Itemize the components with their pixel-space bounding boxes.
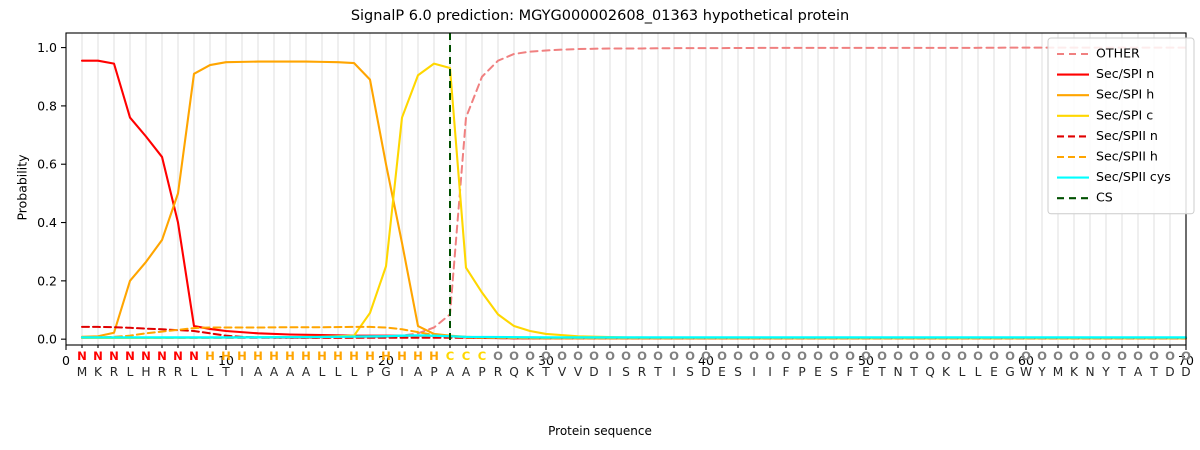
sequence-char: I bbox=[672, 365, 676, 379]
legend-label: Sec/SPI n bbox=[1096, 66, 1154, 81]
sequence-char: E bbox=[718, 365, 726, 379]
annotation-char: O bbox=[621, 349, 631, 363]
sequence-char: G bbox=[381, 365, 390, 379]
sequence-char: E bbox=[990, 365, 998, 379]
legend-label: Sec/SPI c bbox=[1096, 107, 1153, 122]
series-line bbox=[82, 335, 1186, 337]
annotation-char: C bbox=[462, 349, 471, 363]
signalp-figure: SignalP 6.0 prediction: MGYG000002608_01… bbox=[0, 0, 1200, 450]
legend-label: Sec/SPII n bbox=[1096, 128, 1158, 143]
annotation-char: O bbox=[669, 349, 679, 363]
annotation-char: H bbox=[397, 349, 407, 363]
sequence-char: Q bbox=[925, 365, 935, 379]
sequence-char: R bbox=[638, 365, 647, 379]
annotation-char: O bbox=[845, 349, 855, 363]
sequence-char: S bbox=[734, 365, 742, 379]
annotation-char: O bbox=[989, 349, 999, 363]
sequence-char: M bbox=[77, 365, 88, 379]
sequence-char: N bbox=[893, 365, 902, 379]
legend-label: OTHER bbox=[1096, 46, 1140, 61]
sequence-char: R bbox=[110, 365, 119, 379]
annotation-char: O bbox=[557, 349, 567, 363]
annotation-char: O bbox=[525, 349, 535, 363]
annotation-char: O bbox=[1101, 349, 1111, 363]
legend-label: Sec/SPII h bbox=[1096, 149, 1158, 164]
sequence-char: N bbox=[1085, 365, 1094, 379]
sequence-char: A bbox=[414, 365, 423, 379]
annotation-char: O bbox=[1037, 349, 1047, 363]
annotation-char: O bbox=[509, 349, 519, 363]
annotation-char: O bbox=[797, 349, 807, 363]
annotation-char: O bbox=[605, 349, 615, 363]
annotation-char: O bbox=[1005, 349, 1015, 363]
sequence-char: F bbox=[846, 365, 853, 379]
annotation-char: N bbox=[173, 349, 183, 363]
annotation-char: C bbox=[478, 349, 487, 363]
sequence-char: L bbox=[975, 365, 982, 379]
gridlines bbox=[82, 33, 1186, 345]
annotation-char: N bbox=[125, 349, 135, 363]
sequence-char: K bbox=[526, 365, 535, 379]
y-tick-label: 0.4 bbox=[37, 215, 57, 230]
sequence-char: R bbox=[158, 365, 167, 379]
annotation-char: O bbox=[1069, 349, 1079, 363]
sequence-char: T bbox=[1149, 365, 1158, 379]
annotation-char: N bbox=[77, 349, 87, 363]
sequence-char: A bbox=[254, 365, 263, 379]
sequence-char: I bbox=[752, 365, 756, 379]
annotation-char: O bbox=[733, 349, 743, 363]
annotation-char: O bbox=[957, 349, 967, 363]
sequence-char: A bbox=[462, 365, 471, 379]
sequence-char: I bbox=[608, 365, 612, 379]
sequence-char: T bbox=[877, 365, 886, 379]
sequence-char: M bbox=[1053, 365, 1064, 379]
annotation-char: N bbox=[141, 349, 151, 363]
sequence-char: L bbox=[127, 365, 134, 379]
annotation-char: O bbox=[637, 349, 647, 363]
sequence-char: I bbox=[768, 365, 772, 379]
annotation-char: O bbox=[861, 349, 871, 363]
sequence-char: D bbox=[1181, 365, 1190, 379]
annotation-char: H bbox=[333, 349, 343, 363]
sequence-char: T bbox=[541, 365, 550, 379]
sequence-char: I bbox=[400, 365, 404, 379]
series-line bbox=[82, 62, 1186, 339]
sequence-char: L bbox=[191, 365, 198, 379]
sequence-char: Y bbox=[1101, 365, 1110, 379]
sequence-char: A bbox=[446, 365, 455, 379]
data-series bbox=[82, 33, 1186, 345]
sequence-char: K bbox=[942, 365, 951, 379]
annotation-char: H bbox=[205, 349, 215, 363]
sequence-char: T bbox=[1117, 365, 1126, 379]
sequence-char: A bbox=[1134, 365, 1143, 379]
annotation-char: O bbox=[877, 349, 887, 363]
annotation-char: O bbox=[893, 349, 903, 363]
legend-label: Sec/SPII cys bbox=[1096, 169, 1171, 184]
annotation-char: O bbox=[973, 349, 983, 363]
sequence-char: L bbox=[959, 365, 966, 379]
annotation-char: N bbox=[109, 349, 119, 363]
sequence-char: H bbox=[141, 365, 150, 379]
sequence-char: R bbox=[174, 365, 183, 379]
annotation-char: O bbox=[749, 349, 759, 363]
sequence-char: Q bbox=[509, 365, 519, 379]
annotation-char: O bbox=[941, 349, 951, 363]
annotation-char: H bbox=[429, 349, 439, 363]
annotation-char: O bbox=[1133, 349, 1143, 363]
annotation-char: O bbox=[765, 349, 775, 363]
annotation-char: H bbox=[317, 349, 327, 363]
annotation-char: O bbox=[589, 349, 599, 363]
annotation-char: O bbox=[909, 349, 919, 363]
y-tick-label: 0.0 bbox=[37, 332, 57, 347]
sequence-char: K bbox=[94, 365, 103, 379]
annotation-char: O bbox=[717, 349, 727, 363]
sequence-char: D bbox=[589, 365, 598, 379]
annotation-char: O bbox=[573, 349, 583, 363]
annotation-char: O bbox=[1117, 349, 1127, 363]
sequence-char: A bbox=[302, 365, 311, 379]
y-tick-label: 1.0 bbox=[37, 40, 57, 55]
sequence-char: D bbox=[701, 365, 710, 379]
annotation-char: H bbox=[381, 349, 391, 363]
annotation-char: O bbox=[813, 349, 823, 363]
annotation-char: O bbox=[701, 349, 711, 363]
y-tick-label: 0.6 bbox=[37, 157, 57, 172]
sequence-char: I bbox=[240, 365, 244, 379]
sequence-char: L bbox=[351, 365, 358, 379]
sequence-char: W bbox=[1020, 365, 1032, 379]
sequence-char: S bbox=[622, 365, 630, 379]
sequence-char: T bbox=[653, 365, 662, 379]
sequence-char: F bbox=[782, 365, 789, 379]
sequence-char: A bbox=[286, 365, 295, 379]
annotation-char: H bbox=[413, 349, 423, 363]
sequence-char: E bbox=[862, 365, 870, 379]
y-axis-ticks: 0.00.20.40.60.81.0 bbox=[37, 40, 66, 347]
annotation-char: O bbox=[1021, 349, 1031, 363]
series-line bbox=[82, 61, 1186, 339]
sequence-char: P bbox=[478, 365, 485, 379]
sequence-char: G bbox=[1005, 365, 1014, 379]
sequence-char: S bbox=[686, 365, 694, 379]
plot-area: 0.00.20.40.60.81.0 010203040506070 NMNKN… bbox=[0, 0, 1200, 450]
annotation-char: O bbox=[1053, 349, 1063, 363]
sequence-char: V bbox=[558, 365, 567, 379]
annotation-char: H bbox=[237, 349, 247, 363]
legend-label: Sec/SPI h bbox=[1096, 87, 1154, 102]
x-tick-label: 0 bbox=[62, 353, 70, 368]
sequence-char: T bbox=[221, 365, 230, 379]
sequence-char: V bbox=[574, 365, 583, 379]
annotation-char: O bbox=[685, 349, 695, 363]
sequence-char: D bbox=[1165, 365, 1174, 379]
annotation-char: O bbox=[781, 349, 791, 363]
annotation-char: H bbox=[365, 349, 375, 363]
annotation-char: O bbox=[1149, 349, 1159, 363]
legend-box bbox=[1048, 38, 1194, 214]
legend: OTHERSec/SPI nSec/SPI hSec/SPI cSec/SPII… bbox=[1048, 38, 1194, 214]
annotation-char: N bbox=[189, 349, 199, 363]
series-line bbox=[82, 48, 1186, 338]
annotation-char: O bbox=[653, 349, 663, 363]
y-tick-label: 0.2 bbox=[37, 273, 57, 288]
sequence-char: P bbox=[430, 365, 437, 379]
annotation-char: N bbox=[157, 349, 167, 363]
annotation-char: H bbox=[285, 349, 295, 363]
annotation-char: O bbox=[925, 349, 935, 363]
y-tick-label: 0.8 bbox=[37, 98, 57, 113]
sequence-char: Y bbox=[1037, 365, 1046, 379]
annotation-char: O bbox=[493, 349, 503, 363]
annotation-char: O bbox=[1165, 349, 1175, 363]
sequence-char: K bbox=[1070, 365, 1079, 379]
sequence-char: E bbox=[814, 365, 822, 379]
annotation-char: O bbox=[1181, 349, 1191, 363]
sequence-char: L bbox=[335, 365, 342, 379]
annotation-char: O bbox=[1085, 349, 1095, 363]
sequence-char: R bbox=[494, 365, 503, 379]
annotation-char: H bbox=[349, 349, 359, 363]
annotation-char: H bbox=[301, 349, 311, 363]
series-line bbox=[82, 64, 1186, 339]
sequence-char: S bbox=[830, 365, 838, 379]
annotation-char: N bbox=[93, 349, 103, 363]
legend-label: CS bbox=[1096, 190, 1113, 205]
annotation-char: O bbox=[541, 349, 551, 363]
sequence-char: P bbox=[798, 365, 805, 379]
annotation-char: O bbox=[829, 349, 839, 363]
sequence-char: L bbox=[207, 365, 214, 379]
sequence-char: A bbox=[270, 365, 279, 379]
sequence-char: P bbox=[366, 365, 373, 379]
sequence-char: T bbox=[909, 365, 918, 379]
annotation-char: H bbox=[269, 349, 279, 363]
annotation-char: H bbox=[221, 349, 231, 363]
annotation-char: C bbox=[446, 349, 455, 363]
annotation-char: H bbox=[253, 349, 263, 363]
sequence-char: L bbox=[319, 365, 326, 379]
